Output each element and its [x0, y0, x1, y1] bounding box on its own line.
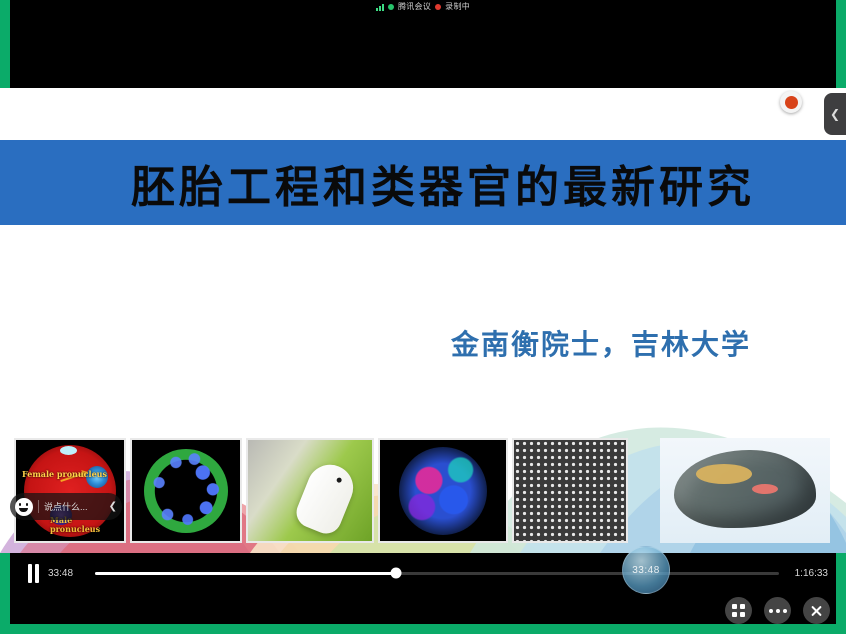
- close-button[interactable]: [803, 597, 830, 624]
- seek-bar-handle[interactable]: [390, 568, 401, 579]
- embryo-closeup-icon: [248, 440, 372, 541]
- close-icon: [810, 604, 823, 617]
- female-pronucleus-label: Female pronucleus: [22, 470, 107, 478]
- status-bar-app-name: 腾讯会议: [398, 3, 431, 11]
- page-title: 胚胎工程和类器官的最新研究: [0, 151, 846, 215]
- blastocyst-icon: [144, 449, 228, 533]
- chat-input-placeholder[interactable]: 说点什么...: [38, 500, 102, 513]
- grid-icon: [732, 604, 745, 617]
- more-options-button[interactable]: [764, 597, 791, 624]
- ellipsis-icon: [769, 609, 787, 613]
- thumbnail-organoid-immunostain: [378, 438, 508, 543]
- thumbnail-blastocyst-fluorescence: [130, 438, 242, 543]
- pause-icon[interactable]: [18, 558, 48, 588]
- slide-title-band: 胚胎工程和类器官的最新研究: [0, 140, 846, 225]
- microelectrode-grid-icon: [514, 440, 626, 541]
- video-player-bar: 33:48 1:16:33: [10, 553, 836, 624]
- slide-image-strip: Female pronucleus Male pronucleus: [0, 438, 846, 553]
- current-time-label: 33:48: [48, 568, 86, 579]
- green-dot-icon: [388, 4, 394, 10]
- player-control-row: 33:48 1:16:33: [10, 553, 836, 593]
- grid-view-button[interactable]: [725, 597, 752, 624]
- record-indicator-icon[interactable]: [780, 91, 802, 113]
- slide-author: 金南衡院士，吉林大学: [451, 323, 751, 363]
- seek-bar-fill: [95, 572, 396, 575]
- seek-bar[interactable]: [95, 572, 779, 575]
- red-record-dot-icon: [435, 4, 441, 10]
- chevron-left-icon[interactable]: ❮: [107, 501, 117, 512]
- polar-body-icon: [60, 446, 77, 455]
- thumbnail-microelectrode-array: [512, 438, 628, 543]
- bottom-control-buttons: [725, 597, 830, 624]
- brain-illustration-icon: [660, 438, 830, 543]
- signal-bars-icon: [376, 4, 384, 11]
- presentation-slide: 胚胎工程和类器官的最新研究 金南衡院士，吉林大学 Female: [0, 88, 846, 553]
- status-bar: 腾讯会议 录制中: [10, 0, 836, 14]
- organoid-icon: [399, 447, 487, 535]
- time-watermark: 33:48: [622, 546, 670, 594]
- chat-input-bar[interactable]: 说点什么... ❮: [10, 493, 122, 520]
- status-bar-recording-label: 录制中: [445, 3, 470, 11]
- thumbnail-mouse-embryo-closeup: [246, 438, 374, 543]
- thumbnail-zygote-pronuclei: Female pronucleus Male pronucleus: [14, 438, 126, 543]
- total-time-label: 1:16:33: [788, 568, 828, 579]
- smiley-face-icon[interactable]: [15, 498, 33, 516]
- panel-collapse-button[interactable]: ❮: [824, 93, 846, 135]
- thumbnail-brain-anatomy: [660, 438, 830, 543]
- screen-root: 腾讯会议 录制中 胚胎工程和类器官的最新研究 金南衡院士，吉林大学: [0, 0, 846, 634]
